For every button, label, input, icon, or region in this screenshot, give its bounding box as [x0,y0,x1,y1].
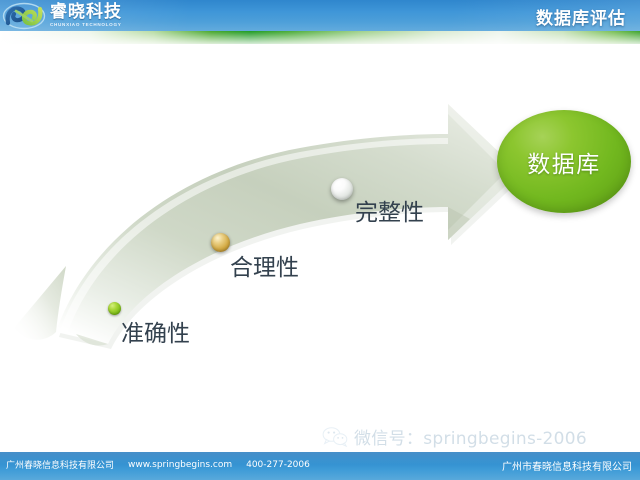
database-target-label: 数据库 [527,145,601,179]
database-target-ellipse[interactable]: 数据库 [497,110,631,213]
slide-header: 睿晓科技 CHUNXIAO TECHNOLOGY 数据库评估 [0,0,640,31]
green-bullet-icon [108,302,121,315]
wechat-watermark: 微信号：springbegins-2006 [322,424,587,449]
footer-website[interactable]: www.springbegins.com [128,460,232,470]
node-integrity-label: 完整性 [355,193,424,227]
slide-canvas: 睿晓科技 CHUNXIAO TECHNOLOGY 数据库评估 [0,0,640,480]
logo-text: 睿晓科技 CHUNXIAO TECHNOLOGY [50,4,122,28]
gold-bullet-icon [211,233,230,252]
node-rationality-label: 合理性 [230,248,299,282]
silver-bullet-icon [331,178,353,200]
header-accent-stripe-fade [0,31,640,44]
chunxiao-swirl-logo-icon [2,2,46,30]
logo-chinese-name: 睿晓科技 [50,4,122,21]
diagram-area: 准确性 合理性 完整性 [0,44,640,440]
footer-left-group: 广州春晓信息科技有限公司 www.springbegins.com 400-27… [6,458,310,471]
footer-company: 广州春晓信息科技有限公司 [6,458,114,471]
wechat-watermark-text: 微信号：springbegins-2006 [354,424,587,449]
logo-english-name: CHUNXIAO TECHNOLOGY [50,23,122,28]
company-logo[interactable]: 睿晓科技 CHUNXIAO TECHNOLOGY [2,0,122,31]
footer-right-company: 广州市春晓信息科技有限公司 [502,458,632,473]
footer-phone: 400-277-2006 [246,460,310,470]
curved-arrow-shape [0,44,640,440]
page-title: 数据库评估 [536,4,626,29]
node-accuracy-label: 准确性 [121,314,190,348]
wechat-icon [322,426,348,447]
slide-footer: 广州春晓信息科技有限公司 www.springbegins.com 400-27… [0,452,640,480]
